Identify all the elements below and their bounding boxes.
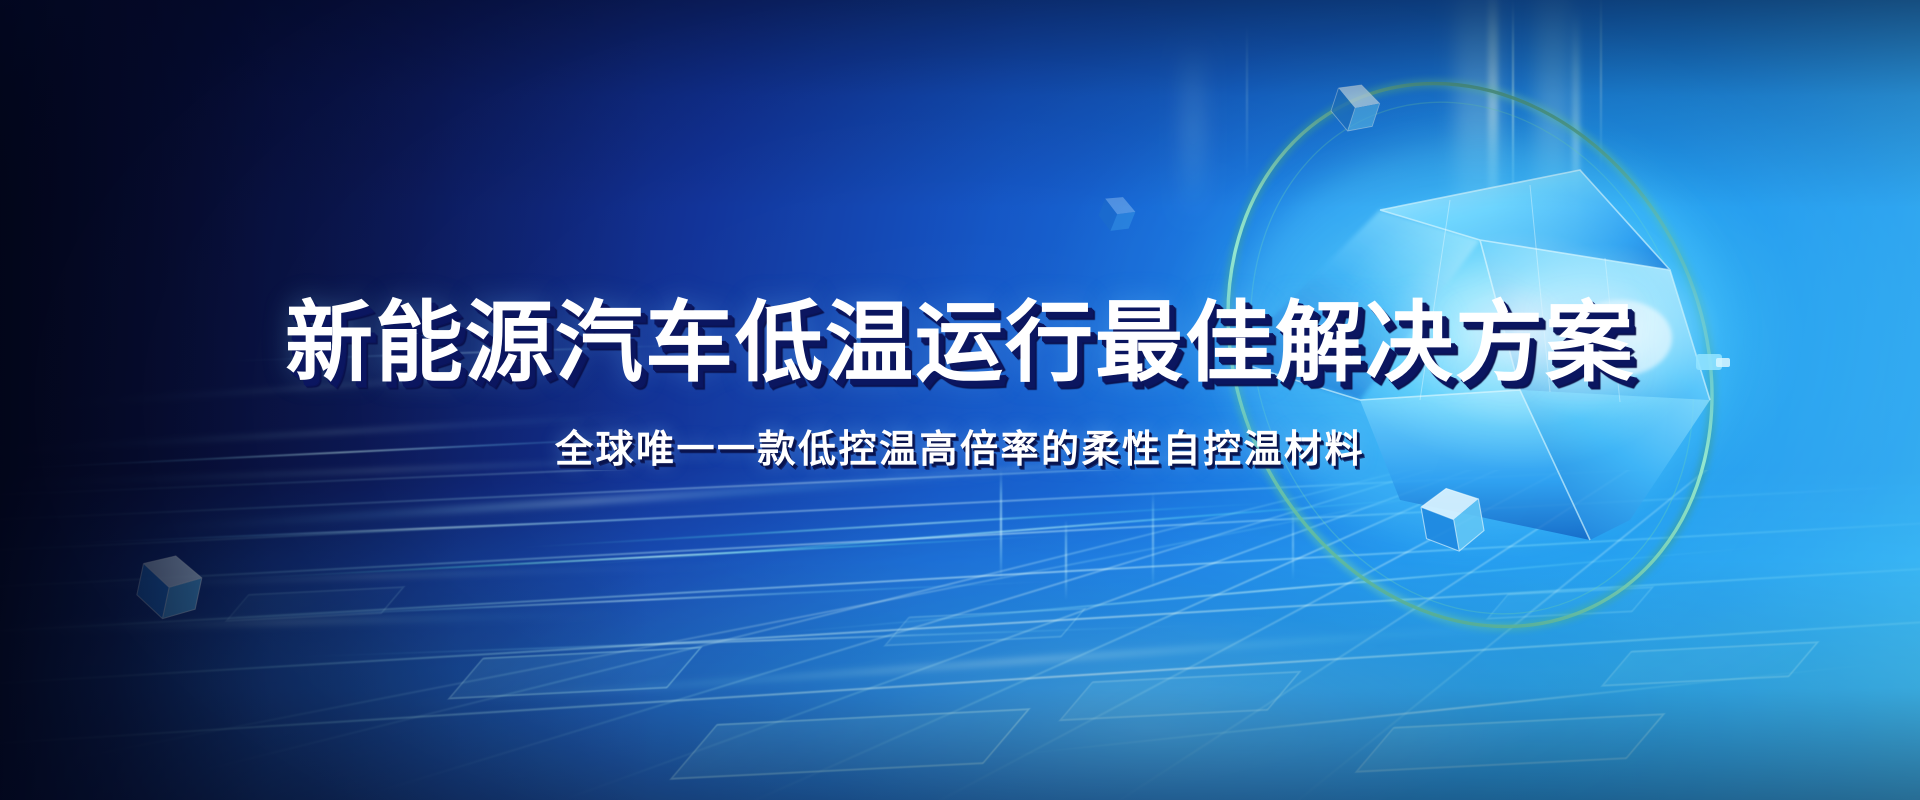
banner-text-block: 新能源汽车低温运行最佳解决方案 全球唯一一款低控温高倍率的柔性自控温材料 bbox=[0, 0, 1920, 800]
banner-subtitle: 全球唯一一款低控温高倍率的柔性自控温材料 bbox=[555, 418, 1365, 473]
banner-title: 新能源汽车低温运行最佳解决方案 bbox=[285, 297, 1635, 389]
hero-banner: 新能源汽车低温运行最佳解决方案 全球唯一一款低控温高倍率的柔性自控温材料 bbox=[0, 0, 1920, 800]
